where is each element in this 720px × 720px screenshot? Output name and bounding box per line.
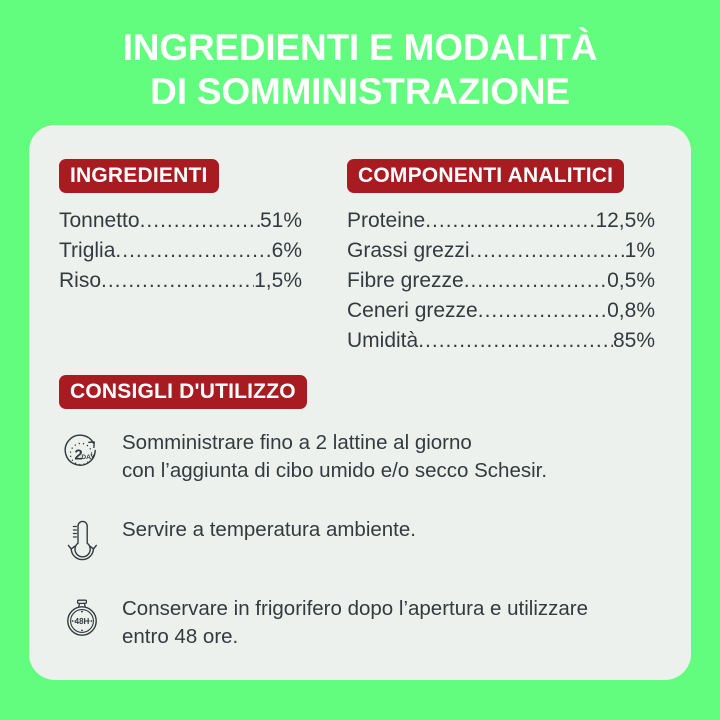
- ingredient-value: 51%: [260, 206, 302, 236]
- dot-leader: ..................................: [140, 206, 260, 236]
- ingredient-value: 1,5%: [254, 266, 302, 296]
- usage-tips-section: CONSIGLI D'UTILIZZO 2 DAY Somministrare: [59, 375, 669, 651]
- thermometer-icon: [59, 516, 105, 564]
- analytic-label: Grassi grezzi: [347, 236, 470, 266]
- ingredient-label: Triglia: [59, 236, 115, 266]
- list-item: Ceneri grezze ..........................…: [347, 296, 655, 326]
- analytic-label: Fibre grezze: [347, 266, 464, 296]
- tip-text: Servire a temperatura ambiente.: [122, 516, 669, 544]
- ingredient-value: 6%: [272, 236, 302, 266]
- analytics-list: Proteine ...............................…: [347, 206, 655, 356]
- usage-tips-heading-badge: CONSIGLI D'UTILIZZO: [59, 375, 307, 409]
- page-title-line-2: DI SOMMINISTRAZIONE: [0, 70, 720, 114]
- ingredients-heading-badge: INGREDIENTI: [59, 159, 219, 193]
- nutrition-label-page: INGREDIENTI E MODALITÀ DI SOMMINISTRAZIO…: [0, 0, 720, 720]
- page-title: INGREDIENTI E MODALITÀ DI SOMMINISTRAZIO…: [0, 26, 720, 114]
- tip-line-1: Somministrare fino a 2 lattine al giorno: [122, 431, 472, 454]
- ingredients-list: Tonnetto ...............................…: [59, 206, 302, 296]
- tip-line-1: Conservare in frigorifero dopo l’apertur…: [122, 597, 588, 620]
- dot-leader: ........................................: [464, 266, 607, 296]
- dot-leader: ........................................: [418, 326, 613, 356]
- list-item: Riso .................................. …: [59, 266, 302, 296]
- analytical-components-section: COMPONENTI ANALITICI Proteine ..........…: [347, 159, 662, 356]
- list-item: Tonnetto ...............................…: [59, 206, 302, 236]
- analytic-value: 12,5%: [595, 206, 655, 236]
- list-item: Grassi grezzi ..........................…: [347, 236, 655, 266]
- analytic-value: 1%: [625, 236, 655, 266]
- list-item: Umidità ................................…: [347, 326, 655, 356]
- dot-leader: ........................................: [425, 206, 595, 236]
- analytic-value: 0,5%: [607, 266, 655, 296]
- list-item: 48H Conservare in frigorifero dopo l’ape…: [59, 595, 669, 651]
- analytics-heading-badge: COMPONENTI ANALITICI: [347, 159, 624, 193]
- dot-leader: ........................................: [478, 296, 607, 326]
- ingredient-label: Tonnetto: [59, 206, 140, 236]
- stopwatch-48h-icon: 48H: [59, 595, 105, 643]
- page-title-line-1: INGREDIENTI E MODALITÀ: [0, 26, 720, 70]
- analytic-label: Ceneri grezze: [347, 296, 478, 326]
- list-item: Triglia ................................…: [59, 236, 302, 266]
- tip-text: Somministrare fino a 2 lattine al giorno…: [122, 429, 669, 485]
- list-item: 2 DAY Somministrare fino a 2 lattine al …: [59, 429, 669, 485]
- tip-text: Conservare in frigorifero dopo l’apertur…: [122, 595, 669, 651]
- tip-line-2: con l’aggiunta di cibo umido e/o secco S…: [122, 457, 669, 485]
- stopwatch-icon-value: 48H: [75, 617, 90, 626]
- list-item: Servire a temperatura ambiente.: [59, 516, 669, 564]
- ingredient-label: Riso: [59, 266, 101, 296]
- analytic-label: Umidità: [347, 326, 418, 356]
- analytic-value: 85%: [613, 326, 655, 356]
- dot-leader: ..................................: [115, 236, 271, 266]
- tip-line-2: entro 48 ore.: [122, 623, 669, 651]
- analytic-label: Proteine: [347, 206, 425, 236]
- list-item: Proteine ...............................…: [347, 206, 655, 236]
- info-card: INGREDIENTI Tonnetto ...................…: [29, 125, 691, 680]
- dot-leader: ........................................: [470, 236, 625, 266]
- dot-leader: ..................................: [101, 266, 254, 296]
- tip-line-1: Servire a temperatura ambiente.: [122, 518, 416, 541]
- two-day-cycle-icon: 2 DAY: [59, 429, 105, 477]
- usage-tips-list: 2 DAY Somministrare fino a 2 lattine al …: [59, 429, 669, 651]
- list-item: Fibre grezze ...........................…: [347, 266, 655, 296]
- ingredients-section: INGREDIENTI Tonnetto ...................…: [59, 159, 329, 296]
- two-day-icon-unit: DAY: [81, 454, 95, 461]
- analytic-value: 0,8%: [607, 296, 655, 326]
